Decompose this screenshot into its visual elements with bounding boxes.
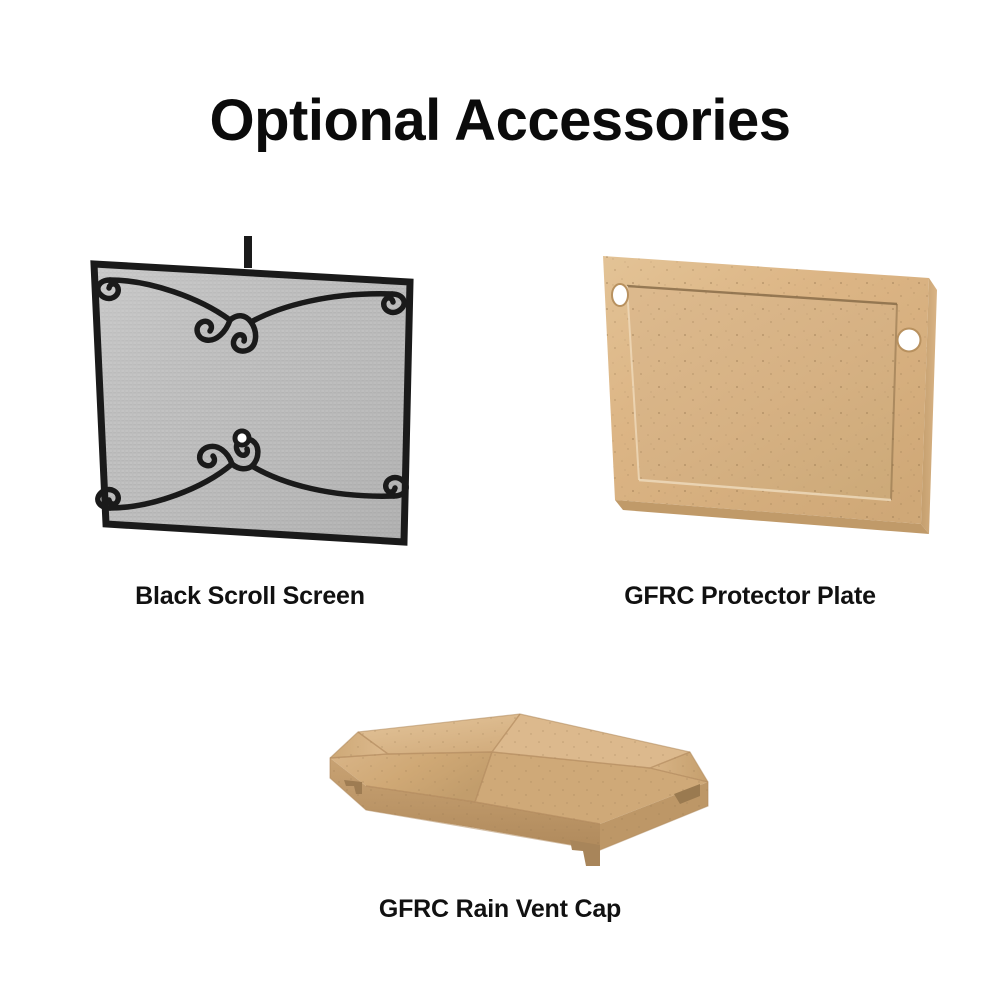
protector-plate-icon — [585, 238, 945, 568]
accessories-page: Optional Accessories — [0, 0, 1000, 1000]
product-label-black-scroll-screen: Black Scroll Screen — [40, 582, 460, 611]
product-gfrc-protector-plate[interactable]: GFRC Protector Plate — [540, 230, 960, 630]
product-label-gfrc-protector-plate: GFRC Protector Plate — [540, 582, 960, 611]
rain-vent-cap-icon — [270, 690, 730, 880]
product-label-gfrc-rain-vent-cap: GFRC Rain Vent Cap — [250, 895, 750, 924]
fireplace-screen-icon — [80, 236, 430, 566]
page-title: Optional Accessories — [0, 92, 1000, 150]
product-gfrc-rain-vent-cap[interactable]: GFRC Rain Vent Cap — [250, 680, 750, 940]
product-black-scroll-screen[interactable]: Black Scroll Screen — [40, 230, 460, 630]
